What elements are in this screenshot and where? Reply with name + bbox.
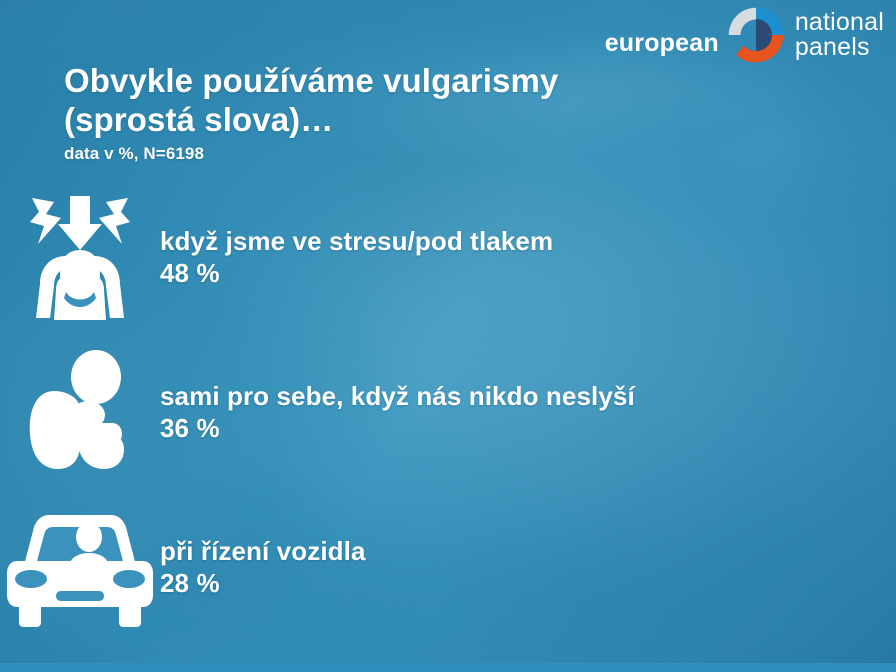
logo-national-line: national [795,10,884,36]
row-label: když jsme ve stresu/pod tlakem [160,227,553,257]
row-label: při řízení vozidla [160,537,366,567]
statistics-list: když jsme ve stresu/pod tlakem 48 % [0,180,896,645]
page-title-line-1: Obvykle používáme vulgarismy [64,62,744,101]
row-value: 28 % [160,569,366,599]
list-item: sami pro sebe, když nás nikdo neslyší 36… [0,335,896,490]
row-text-block: při řízení vozidla 28 % [160,537,366,599]
row-icon-wrapper [0,188,160,328]
stressed-person-lightning-icon [16,192,144,324]
list-item: při řízení vozidla 28 % [0,490,896,645]
bottom-accent-bar [0,663,896,672]
page-subtitle: data v %, N=6198 [64,144,744,164]
row-text-block: sami pro sebe, když nás nikdo neslyší 36… [160,382,635,444]
logo-national-panels-wordmark: national panels [795,10,884,61]
list-item: když jsme ve stresu/pod tlakem 48 % [0,180,896,335]
page-title-line-2: (sprostá slova)… [64,101,744,140]
logo-european-wordmark: european [605,31,719,56]
row-value: 36 % [160,414,635,444]
row-text-block: když jsme ve stresu/pod tlakem 48 % [160,227,553,289]
row-label: sami pro sebe, když nás nikdo neslyší [160,382,635,412]
heading-block: Obvykle používáme vulgarismy (sprostá sl… [64,62,744,164]
row-icon-wrapper [0,498,160,638]
infographic-slide: european national panels Obvykle po [0,0,896,672]
person-sitting-hunched-icon [20,349,140,477]
page-title: Obvykle používáme vulgarismy (sprostá sl… [64,62,744,139]
brand-logo[interactable]: european national panels [605,6,884,64]
row-value: 48 % [160,259,553,289]
row-icon-wrapper [0,343,160,483]
car-with-driver-icon [7,509,153,627]
logo-panels-line: panels [795,35,884,61]
circular-swirl-logo-icon [725,4,787,66]
